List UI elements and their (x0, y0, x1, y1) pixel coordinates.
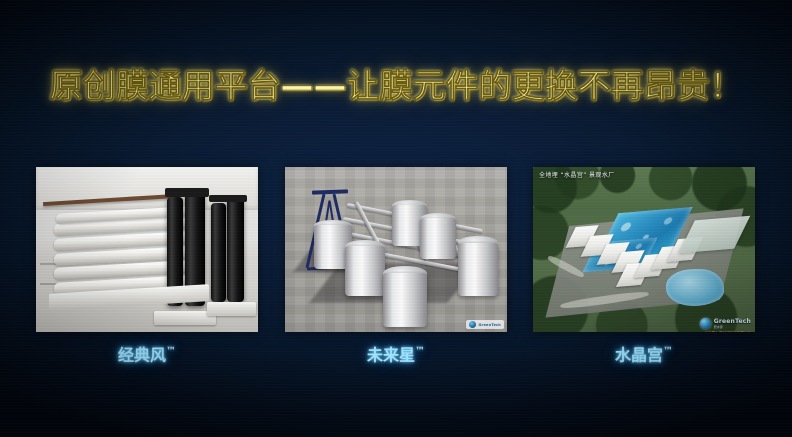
greentech-logo-icon (469, 321, 476, 328)
ro-membrane-skid-photo (36, 167, 258, 332)
watermark-logo: GreenTech (466, 320, 504, 329)
greentech-logo-icon (700, 318, 711, 329)
caption-label: 经典风 (118, 345, 166, 364)
page-title: 原创膜通用平台——让膜元件的更换不再昂贵！ (0, 66, 792, 106)
caption-crystal-palace: 水晶宫™ (533, 340, 755, 367)
product-caption-row: 经典风™ 未来星™ 水晶宫™ (0, 340, 792, 370)
product-image-row: GreenTech (0, 167, 792, 337)
membrane-vessel (458, 243, 498, 296)
manifold-column (227, 198, 244, 302)
watermark-sub: 碧水源 (714, 325, 751, 329)
caption-label: 水晶宫 (615, 345, 663, 364)
concrete-plinth (207, 302, 256, 315)
membrane-vessel (383, 273, 427, 327)
watermark-logo: GreenTech 碧水源 北京碧水源科技股份有限公司 (700, 318, 751, 329)
product-image-crystal-palace[interactable]: 全地埋 “水晶宫” 景观水厂 GreenTech 碧水源 北京碧水源科技股份有限… (533, 167, 755, 332)
trademark-symbol: ™ (415, 346, 425, 357)
manifold-cap (209, 195, 247, 202)
membrane-vessel (420, 218, 456, 259)
trademark-symbol: ™ (663, 346, 673, 357)
render-overlay-caption: 全地埋 “水晶宫” 景观水厂 (539, 171, 615, 180)
product-image-future-star[interactable]: GreenTech (285, 167, 507, 332)
membrane-vessel (345, 246, 385, 296)
gantry-crane-beam (312, 189, 348, 194)
manifold-cap (165, 188, 209, 196)
membrane-vessel-3d-render: GreenTech (285, 167, 507, 332)
manifold-column (211, 203, 225, 302)
underground-plant-aerial-render: 全地埋 “水晶宫” 景观水厂 GreenTech 碧水源 北京碧水源科技股份有限… (533, 167, 755, 332)
product-image-classic-wind[interactable] (36, 167, 258, 332)
caption-future-star: 未来星™ (285, 340, 507, 367)
presentation-slide: 原创膜通用平台——让膜元件的更换不再昂贵！ (0, 0, 792, 437)
caption-classic-wind: 经典风™ (36, 340, 258, 367)
trademark-symbol: ™ (166, 346, 176, 357)
caption-label: 未来星 (367, 345, 415, 364)
watermark-text-stack: GreenTech 碧水源 (714, 319, 751, 329)
watermark-label: GreenTech (478, 323, 501, 327)
watermark-company: 北京碧水源科技股份有限公司 (704, 331, 751, 332)
landscape-pond (666, 269, 724, 305)
